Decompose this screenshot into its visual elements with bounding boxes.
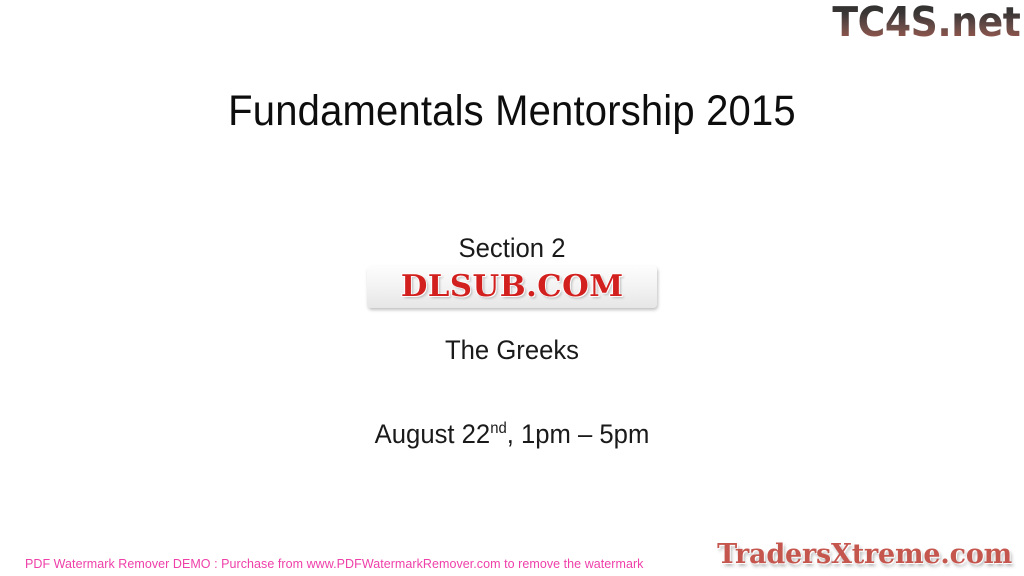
date-time-label: August 22nd, 1pm – 5pm — [26, 419, 999, 450]
date-ordinal-suffix: nd — [490, 420, 507, 437]
dlsub-watermark-plate: DLSUB.COM — [367, 266, 657, 308]
section-label: Section 2 — [26, 233, 999, 264]
date-time-suffix: , 1pm – 5pm — [507, 419, 650, 449]
tradersxtreme-watermark: TradersXtreme.com — [717, 541, 1012, 568]
subject-label: The Greeks — [26, 335, 999, 366]
dlsub-watermark-text: DLSUB.COM — [401, 272, 624, 302]
page-title: Fundamentals Mentorship 2015 — [36, 87, 988, 136]
pdf-watermark-remover-demo-notice: PDF Watermark Remover DEMO : Purchase fr… — [25, 557, 644, 571]
presentation-slide: TC4S.net Fundamentals Mentorship 2015 Se… — [0, 0, 1024, 576]
date-time-prefix: August 22 — [375, 419, 491, 449]
tc4s-site-watermark: TC4S.net — [832, 2, 1020, 43]
